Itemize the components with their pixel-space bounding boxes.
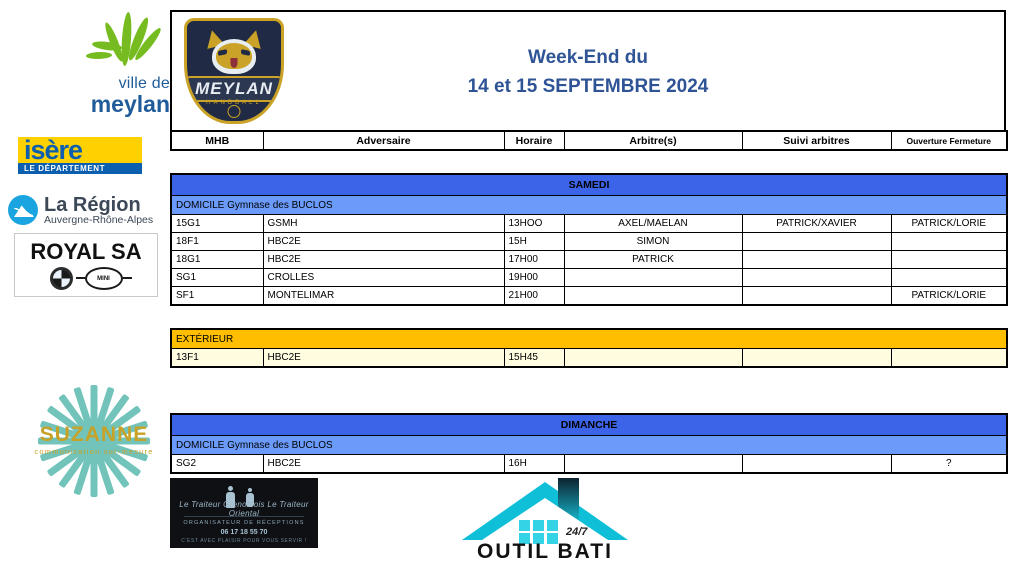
cell-mhb: 18F1	[171, 233, 263, 251]
group-subhead-domicile: DOMICILE Gymnase des BUCLOS	[171, 196, 1007, 215]
cell-mhb: 13F1	[171, 349, 263, 368]
cell-mhb: SG1	[171, 269, 263, 287]
section-banner-label: SAMEDI	[171, 174, 1007, 196]
cell-arbitres	[564, 287, 742, 306]
window-icon	[547, 520, 558, 531]
column-header-horaire: Horaire	[504, 131, 564, 150]
cell-mhb: SF1	[171, 287, 263, 306]
column-header-table: MHB Adversaire Horaire Arbitre(s) Suivi …	[170, 130, 1008, 151]
group-subhead-label: DOMICILE Gymnase des BUCLOS	[171, 436, 1007, 455]
cell-ouverture	[891, 349, 1007, 368]
cell-arbitres: SIMON	[564, 233, 742, 251]
section-dimanche: DIMANCHE DOMICILE Gymnase des BUCLOS SG2…	[170, 413, 1008, 474]
cell-adversaire: HBC2E	[263, 349, 504, 368]
sponsor-sidebar: ville de meylan isère LE DÉPARTEMENT La …	[0, 0, 170, 575]
suzanne-tagline: communication sur-mesure	[28, 447, 160, 456]
cell-ouverture: ?	[891, 455, 1007, 474]
schedule-sheet: MEYLAN HANDBALL Week-End du 14 et 15 SEP…	[170, 10, 1006, 474]
cell-ouverture	[891, 251, 1007, 269]
suzanne-wordmark: SUZANNE	[28, 424, 160, 445]
cell-horaire: 16H	[504, 455, 564, 474]
cell-horaire: 15H	[504, 233, 564, 251]
logo-ville-de-meylan: ville de meylan	[82, 12, 170, 122]
cell-mhb: 18G1	[171, 251, 263, 269]
table-row[interactable]: SG1 CROLLES 19H00	[171, 269, 1007, 287]
column-header-adversaire: Adversaire	[263, 131, 504, 150]
ville-label: ville de	[82, 76, 170, 92]
table-row[interactable]: 15G1 GSMH 13HOO AXEL/MAELAN PATRICK/XAVI…	[171, 215, 1007, 233]
isere-tagline: LE DÉPARTEMENT	[18, 163, 142, 174]
cell-arbitres	[564, 455, 742, 474]
traiteur-tagline: ORGANISATEUR DE RÉCEPTIONS	[170, 520, 318, 526]
table-row[interactable]: 13F1 HBC2E 15H45	[171, 349, 1007, 368]
roof-inner-icon	[479, 498, 611, 542]
column-header-arbitres: Arbitre(s)	[564, 131, 742, 150]
column-header-suivi-arbitres: Suivi arbitres	[742, 131, 891, 150]
logo-outil-bati: 24/7 OUTIL BATI	[462, 472, 628, 558]
cell-horaire: 21H00	[504, 287, 564, 306]
section-banner-dimanche: DIMANCHE	[171, 414, 1007, 436]
isere-wordmark: isère	[18, 137, 142, 163]
traiteur-phone: 06 17 18 55 70	[170, 529, 318, 536]
group-subhead-exterieur: EXTÉRIEUR	[171, 329, 1007, 349]
cell-adversaire: HBC2E	[263, 455, 504, 474]
logo-isere: isère LE DÉPARTEMENT	[18, 137, 142, 173]
group-subhead-label: EXTÉRIEUR	[171, 329, 1007, 349]
window-icon	[519, 520, 530, 531]
logo-traiteur: Le Traiteur Grenoblois Le Traiteur Orien…	[170, 478, 318, 548]
cell-suivi	[742, 269, 891, 287]
cell-horaire: 17H00	[504, 251, 564, 269]
mountain-icon	[8, 195, 38, 225]
cell-ouverture	[891, 233, 1007, 251]
cell-horaire: 15H45	[504, 349, 564, 368]
cell-mhb: SG2	[171, 455, 263, 474]
title-line-2: 14 et 15 SEPTEMBRE 2024	[172, 73, 1004, 102]
cell-suivi	[742, 251, 891, 269]
cell-adversaire: CROLLES	[263, 269, 504, 287]
mini-icon: MINI	[85, 267, 123, 290]
cell-adversaire: GSMH	[263, 215, 504, 233]
cell-arbitres	[564, 269, 742, 287]
cell-adversaire: MONTELIMAR	[263, 287, 504, 306]
cell-suivi	[742, 233, 891, 251]
title-line-1: Week-End du	[172, 44, 1004, 73]
cell-suivi: PATRICK/XAVIER	[742, 215, 891, 233]
section-exterieur: EXTÉRIEUR 13F1 HBC2E 15H45	[170, 328, 1008, 368]
cell-suivi	[742, 349, 891, 368]
group-subhead-domicile: DOMICILE Gymnase des BUCLOS	[171, 436, 1007, 455]
table-row[interactable]: SF1 MONTELIMAR 21H00 PATRICK/LORIE	[171, 287, 1007, 306]
table-row[interactable]: SG2 HBC2E 16H ?	[171, 455, 1007, 474]
table-row[interactable]: 18F1 HBC2E 15H SIMON	[171, 233, 1007, 251]
section-banner-samedi: SAMEDI	[171, 174, 1007, 196]
meylan-label: meylan	[82, 92, 170, 116]
cell-suivi	[742, 287, 891, 306]
bmw-icon	[50, 267, 73, 290]
page-title: Week-End du 14 et 15 SEPTEMBRE 2024	[172, 44, 1004, 101]
cell-suivi	[742, 455, 891, 474]
section-samedi: SAMEDI DOMICILE Gymnase des BUCLOS 15G1 …	[170, 173, 1008, 306]
outil-wordmark: OUTIL BATI	[462, 540, 628, 564]
cell-arbitres: AXEL/MAELAN	[564, 215, 742, 233]
logo-la-region: La Région Auvergne-Rhône-Alpes	[8, 193, 166, 227]
cell-horaire: 19H00	[504, 269, 564, 287]
logo-suzanne: SUZANNE communication sur-mesure	[28, 382, 160, 500]
cell-ouverture: PATRICK/LORIE	[891, 215, 1007, 233]
cell-ouverture	[891, 269, 1007, 287]
cell-ouverture: PATRICK/LORIE	[891, 287, 1007, 306]
cell-adversaire: HBC2E	[263, 233, 504, 251]
cell-arbitres: PATRICK	[564, 251, 742, 269]
handball-icon	[228, 105, 241, 118]
region-tagline: Auvergne-Rhône-Alpes	[44, 215, 153, 226]
logo-royal-sa: ROYAL SA MINI	[14, 233, 158, 297]
table-row[interactable]: 18G1 HBC2E 17H00 PATRICK	[171, 251, 1007, 269]
traiteur-slogan: C'EST AVEC PLAISIR POUR VOUS SERVIR !	[170, 538, 318, 544]
meylan-leaf-icon	[82, 12, 170, 74]
cell-adversaire: HBC2E	[263, 251, 504, 269]
section-banner-label: DIMANCHE	[171, 414, 1007, 436]
column-header-mhb: MHB	[171, 131, 263, 150]
cell-horaire: 13HOO	[504, 215, 564, 233]
cell-arbitres	[564, 349, 742, 368]
outil-badge: 24/7	[566, 526, 587, 538]
divider	[184, 516, 304, 517]
royal-wordmark: ROYAL SA	[15, 241, 157, 263]
cell-mhb: 15G1	[171, 215, 263, 233]
sheet-header: MEYLAN HANDBALL Week-End du 14 et 15 SEP…	[170, 10, 1006, 130]
window-icon	[533, 520, 544, 531]
column-header-row: MHB Adversaire Horaire Arbitre(s) Suivi …	[171, 131, 1007, 150]
column-header-ouverture-fermeture: Ouverture Fermeture	[891, 131, 1007, 150]
region-wordmark: La Région	[44, 195, 153, 215]
group-subhead-label: DOMICILE Gymnase des BUCLOS	[171, 196, 1007, 215]
